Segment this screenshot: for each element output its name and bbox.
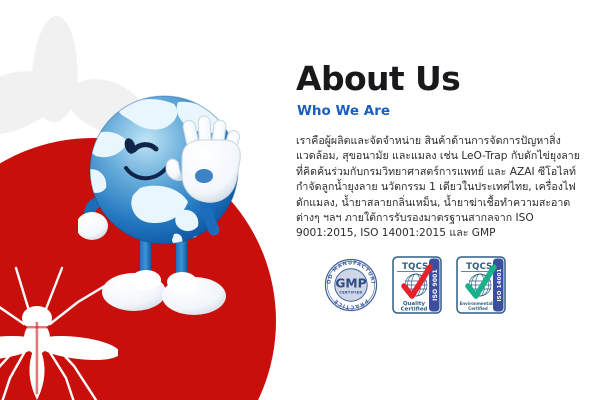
globe-mascot-illustration: [0, 0, 300, 400]
tqcsi-iso-9001-badge: TQCSI Quality Certified ISO 9001: [392, 256, 442, 314]
glove-detail: [195, 169, 213, 183]
tqcsi-iso-14001-badge: TQCSI Environmentally Certified ISO 1400…: [456, 256, 506, 314]
iso14001-line1: Environmentally: [460, 301, 497, 306]
about-us-paragraph: เราคือผู้ผลิตและจัดจำหน่าย สินค้าด้านการ…: [296, 134, 584, 242]
shoes: [102, 270, 226, 315]
gmp-acronym: GMP: [335, 276, 366, 290]
iso9001-standard: ISO 9001: [432, 269, 439, 301]
about-us-content: About Us Who We Are เราคือผู้ผลิตและจัดจ…: [296, 0, 586, 400]
certification-badges: GOOD MANUFACTURING PRACTICE GMP CERTIFIE…: [324, 256, 506, 314]
page-subtitle: Who We Are: [297, 105, 390, 119]
about-us-page: About Us Who We Are เราคือผู้ผลิตและจัดจ…: [0, 0, 600, 400]
gmp-sub-label: CERTIFIED: [339, 290, 362, 294]
globe-character: [78, 84, 258, 320]
iso14001-line2: Certified: [468, 306, 488, 311]
iso14001-standard: ISO 14001: [497, 268, 503, 301]
page-title: About Us: [296, 62, 460, 95]
gmp-certified-badge: GOOD MANUFACTURING PRACTICE GMP CERTIFIE…: [324, 258, 378, 312]
iso9001-line2: Certified: [401, 307, 428, 313]
